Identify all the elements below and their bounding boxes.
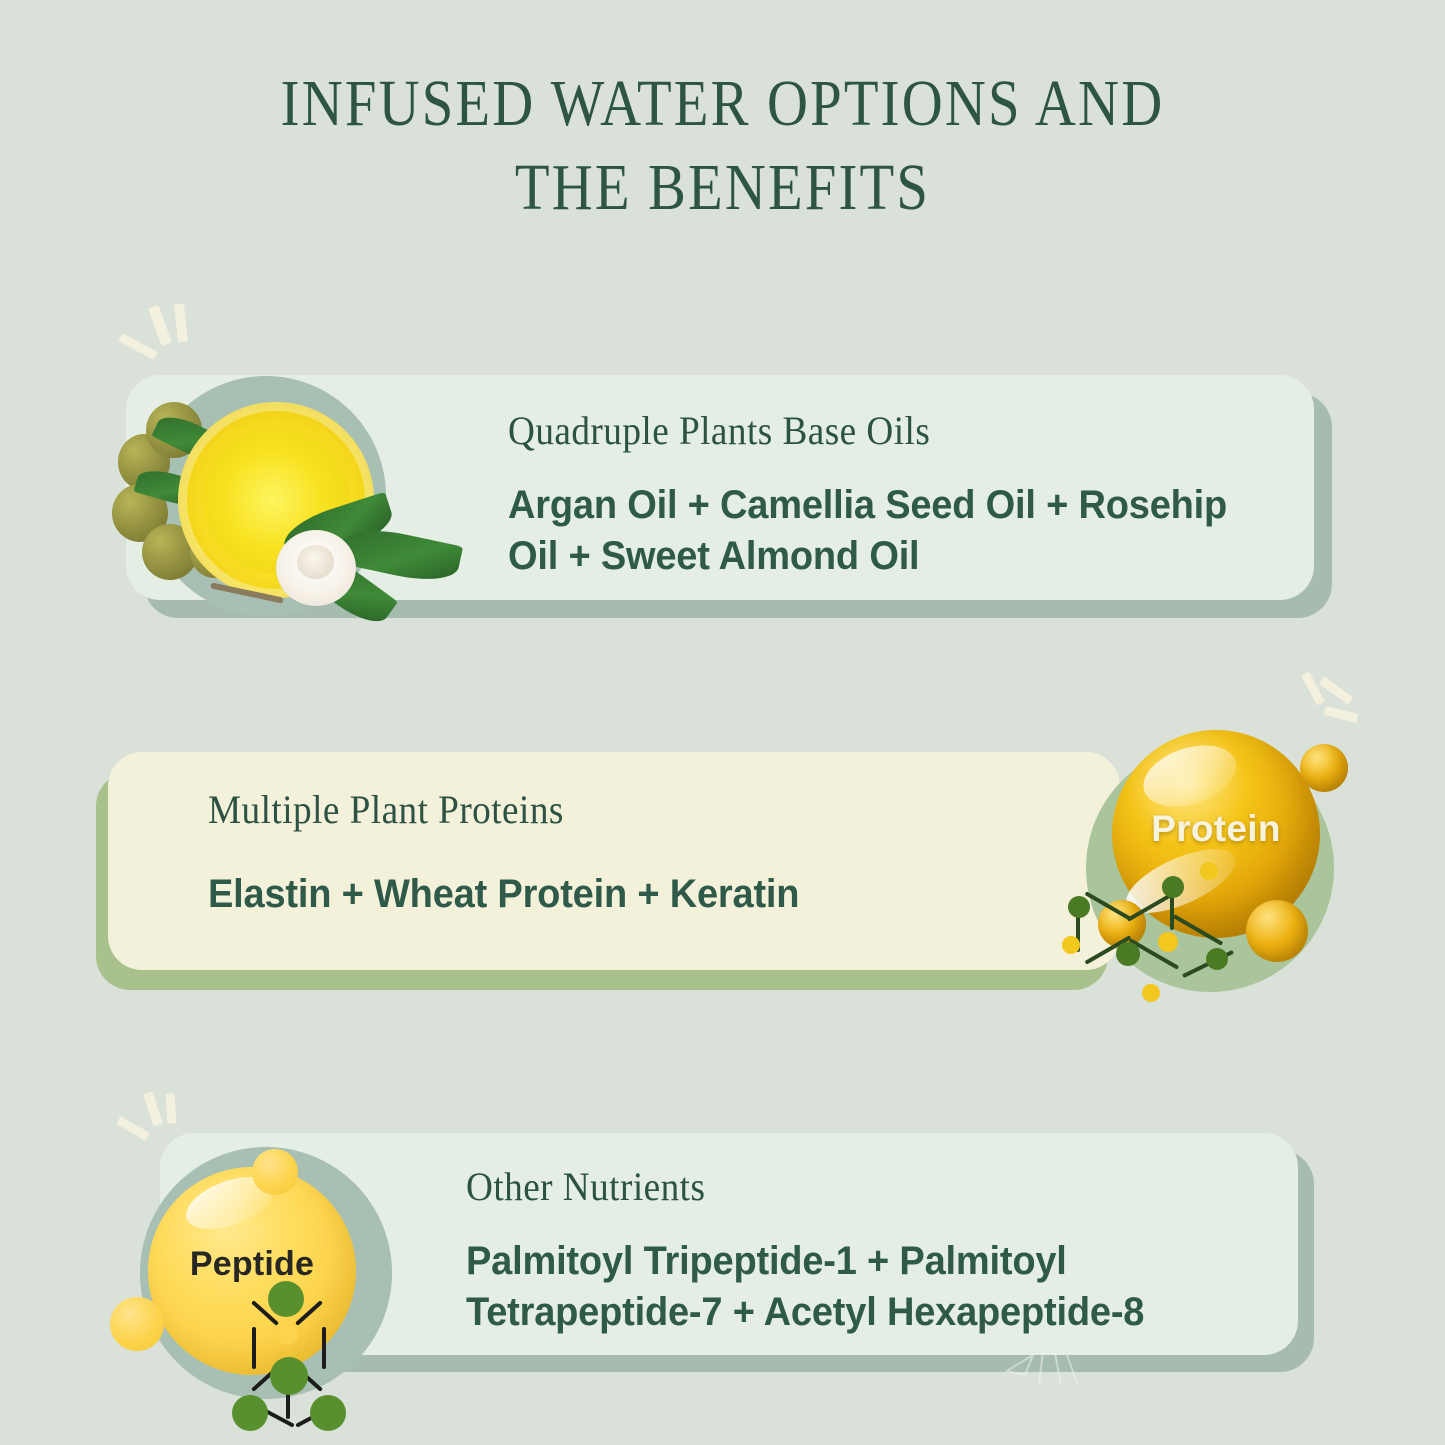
molecule-node [232, 1395, 268, 1431]
card-text-block: Quadruple Plants Base Oils Argan Oil + C… [508, 407, 1298, 582]
card-plant-proteins[interactable]: Multiple Plant Proteins Elastin + Wheat … [108, 752, 1120, 970]
molecule-node [1162, 876, 1184, 898]
card-text-block: Other Nutrients Palmitoyl Tripeptide-1 +… [466, 1163, 1266, 1338]
molecule-bond [1173, 914, 1223, 945]
card-body: Elastin + Wheat Protein + Keratin [208, 869, 1044, 920]
card-kicker: Multiple Plant Proteins [208, 786, 1026, 833]
infographic-page: INFUSED WATER OPTIONS AND THE BENEFITS Q… [0, 0, 1445, 1445]
molecule-bond [1084, 891, 1131, 920]
molecule-node [1116, 942, 1140, 966]
molecule-node [1142, 984, 1160, 1002]
molecule-bond [322, 1327, 326, 1369]
protein-label: Protein [1112, 808, 1320, 850]
molecule-node [1158, 932, 1178, 952]
protein-sphere-graphic: Protein [1060, 700, 1390, 1020]
peptide-droplet [110, 1297, 164, 1351]
peptide-droplet [252, 1149, 298, 1195]
page-title: INFUSED WATER OPTIONS AND THE BENEFITS [101, 62, 1344, 231]
molecule-bond [252, 1327, 256, 1369]
sparkle-ray [143, 1091, 163, 1126]
page-title-line2: THE BENEFITS [101, 146, 1344, 230]
peptide-label: Peptide [148, 1245, 356, 1284]
molecule-bond [286, 1391, 290, 1419]
brand-watermark-icon [1005, 1345, 1095, 1393]
molecule-node [310, 1395, 346, 1431]
molecule-node [278, 1325, 298, 1345]
protein-droplet [1300, 744, 1348, 792]
card-body: Argan Oil + Camellia Seed Oil + Rosehip … [508, 480, 1259, 582]
molecule-node [1068, 896, 1090, 918]
molecule-node [270, 1357, 308, 1395]
molecule-node [1206, 948, 1228, 970]
card-body: Palmitoyl Tripeptide-1 + Palmitoyl Tetra… [466, 1236, 1226, 1338]
card-kicker: Other Nutrients [466, 1163, 1210, 1210]
molecule-node [268, 1281, 304, 1317]
molecule-lattice [1072, 880, 1292, 1010]
page-title-line1: INFUSED WATER OPTIONS AND [281, 67, 1165, 140]
camellia-flower [276, 530, 356, 606]
molecule-node [1200, 862, 1218, 880]
molecule-lattice [246, 1299, 416, 1429]
sparkle-ray [174, 304, 188, 343]
card-kicker: Quadruple Plants Base Oils [508, 407, 1243, 454]
card-text-block: Multiple Plant Proteins Elastin + Wheat … [208, 786, 1088, 920]
sparkle-ray [165, 1093, 176, 1124]
molecule-node [1062, 936, 1080, 954]
peptide-sphere-graphic: Peptide [110, 1125, 450, 1425]
olive-oil-bowl-graphic [104, 338, 484, 638]
